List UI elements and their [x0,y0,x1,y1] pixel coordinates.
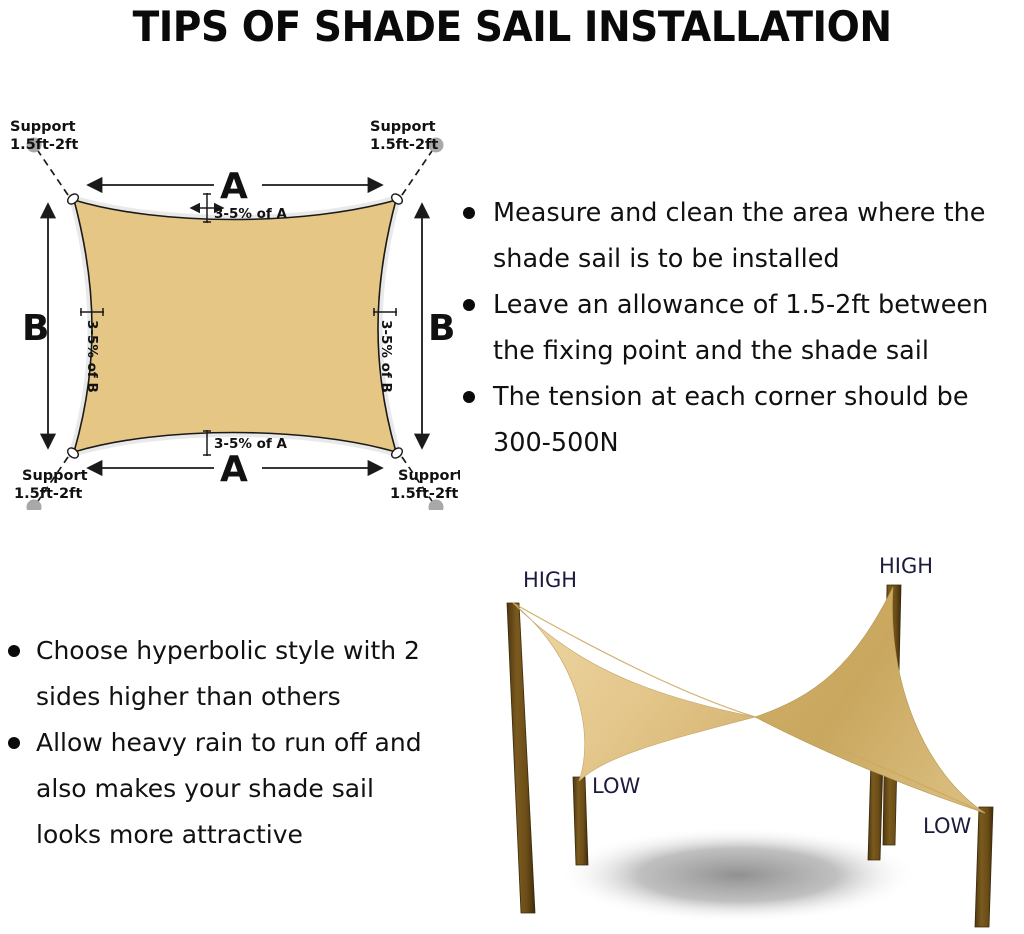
dimension-b-left: B [22,204,49,448]
tips-list-right: Measure and clean the area where the sha… [455,190,1024,466]
post-low-left [573,777,588,865]
list-item: Choose hyperbolic style with 2 sides hig… [2,628,442,720]
shade-sail-shape [74,200,396,452]
tip-text: The tension at each corner should be 300… [493,374,1024,466]
dimension-a-bottom-label: A [220,449,248,490]
dimension-b-left-label: B [22,308,49,349]
page-title: TIPS OF SHADE SAIL INSTALLATION [133,6,892,48]
label-low-right: LOW [923,814,971,838]
post-mid-right [868,760,883,860]
support-bottom-right-line1: Support [398,468,460,484]
dimension-a-top: A [88,166,382,207]
list-item: Measure and clean the area where the sha… [455,190,1024,282]
list-item: Allow heavy rain to run off and also mak… [2,720,442,858]
support-bottom-left-line2: 1.5ft-2ft [14,486,82,502]
label-low-left: LOW [592,774,640,798]
sail-lobe-right [755,587,985,813]
curve-right-label: 3-5% of B [378,320,394,393]
support-bottom-right-line2: 1.5ft-2ft [390,486,458,502]
list-item: Leave an allowance of 1.5-2ft between th… [455,282,1024,374]
ground-shadow [558,827,918,923]
curve-left-label: 3-5% of B [84,320,100,393]
support-top-right-line2: 1.5ft-2ft [370,137,438,153]
dimension-b-right: B [422,204,455,448]
tip-text: Allow heavy rain to run off and also mak… [36,720,442,858]
support-top-left-line1: Support [10,119,76,135]
post-high-left [507,603,535,913]
support-bottom-left-line1: Support [22,468,88,484]
dimension-b-right-label: B [428,308,455,349]
rectangular-sail-diagram: Support 1.5ft-2ft Support 1.5ft-2ft Supp… [0,100,460,510]
curve-bottom-label: 3-5% of A [214,436,287,452]
dimension-a-bottom: A [88,449,382,490]
tip-text: Leave an allowance of 1.5-2ft between th… [493,282,1024,374]
curve-left-callout: 3-5% of B [80,308,104,393]
title-bar: TIPS OF SHADE SAIL INSTALLATION [0,0,1024,54]
post-low-right [975,807,993,927]
tip-text: Measure and clean the area where the sha… [493,190,1024,282]
list-item: The tension at each corner should be 300… [455,374,1024,466]
dimension-a-top-label: A [220,166,248,207]
label-high-left: HIGH [523,568,577,592]
support-top-right-line1: Support [370,119,436,135]
support-top-left-line2: 1.5ft-2ft [10,137,78,153]
tips-list-left: Choose hyperbolic style with 2 sides hig… [2,628,442,858]
sail-lobe-left [513,603,755,781]
tip-text: Choose hyperbolic style with 2 sides hig… [36,628,442,720]
curve-top-label: 3-5% of A [214,206,287,222]
label-high-right: HIGH [879,554,933,578]
hyperbolic-sail-diagram: HIGH HIGH LOW LOW [455,545,1024,934]
